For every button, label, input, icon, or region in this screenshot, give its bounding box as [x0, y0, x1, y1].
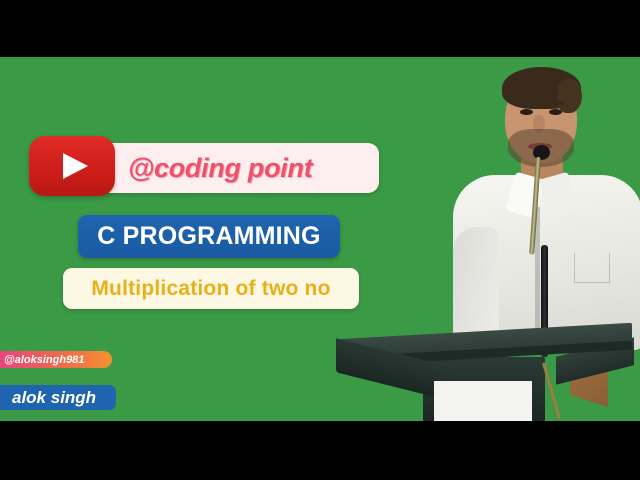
letterbox-bottom-bar: [0, 421, 640, 480]
channel-handle-label: @coding point: [128, 153, 312, 184]
course-title-badge[interactable]: C PROGRAMMING: [78, 215, 340, 258]
speaker-photo: [330, 57, 640, 421]
speaker-shirt-pocket: [574, 253, 610, 283]
speaker-eyebrow-right: [547, 101, 564, 105]
author-handle-label: @aloksingh981: [4, 354, 84, 366]
topic-title-badge[interactable]: Multiplication of two no: [63, 268, 359, 309]
video-frame: @coding point C PROGRAMMING Multiplicati…: [0, 57, 640, 421]
letterbox-top-bar: [0, 0, 640, 57]
author-handle-badge[interactable]: @aloksingh981: [0, 351, 112, 368]
video-thumbnail: @coding point C PROGRAMMING Multiplicati…: [0, 0, 640, 480]
speaker-eye-right: [549, 109, 562, 115]
author-name-label: alok singh: [12, 388, 96, 408]
course-title-label: C PROGRAMMING: [97, 222, 320, 251]
speaker-eyebrow-left: [518, 101, 535, 105]
play-triangle-icon: [63, 153, 88, 179]
channel-handle-badge[interactable]: @coding point: [100, 143, 379, 193]
speaker-eye-left: [520, 109, 533, 115]
speaker-hair-side: [558, 79, 582, 113]
author-name-badge[interactable]: alok singh: [0, 385, 116, 410]
topic-title-label: Multiplication of two no: [91, 277, 330, 301]
podium-front-panel: [434, 381, 532, 421]
podium: [330, 319, 640, 421]
youtube-play-icon[interactable]: [29, 136, 115, 196]
